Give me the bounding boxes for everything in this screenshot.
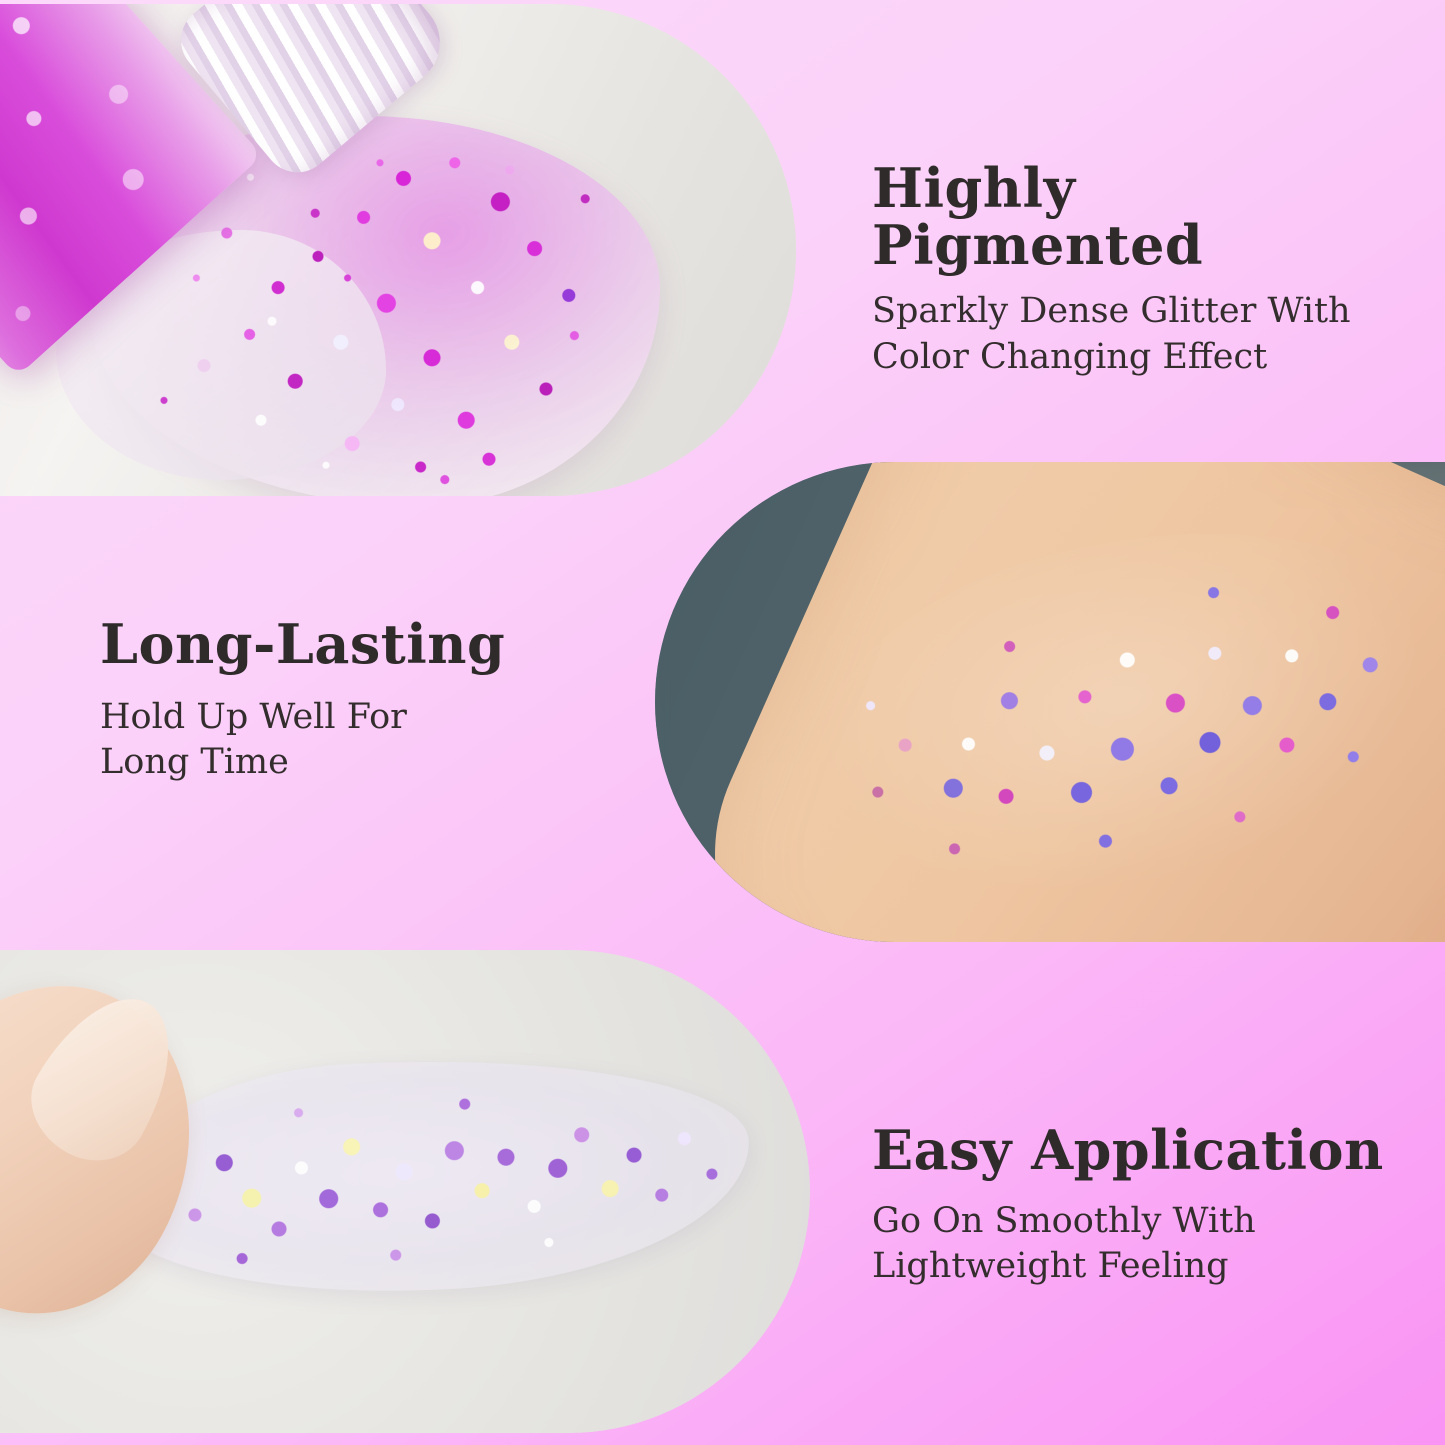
feature-title: Highly Pigmented [872, 160, 1417, 273]
feature-block-easy-application: Easy Application Go On Smoothly With Lig… [872, 1122, 1392, 1290]
gel-smear [104, 1043, 755, 1306]
feature-block-long-lasting: Long-Lasting Hold Up Well For Long Time [100, 616, 570, 786]
feature-title: Long-Lasting [100, 616, 570, 673]
feature-title: Easy Application [872, 1122, 1392, 1179]
feature-block-highly-pigmented: Highly Pigmented Sparkly Dense Glitter W… [872, 160, 1417, 380]
feature-subtitle: Hold Up Well For Long Time [100, 695, 570, 786]
product-feature-infographic: Highly Pigmented Sparkly Dense Glitter W… [0, 0, 1445, 1445]
feature-subtitle: Sparkly Dense Glitter With Color Changin… [872, 289, 1417, 380]
glitter-gel-tube-photo [0, 4, 796, 496]
finger-swipe-photo [0, 950, 810, 1433]
arm-swatch-photo [655, 462, 1445, 942]
feature-subtitle: Go On Smoothly With Lightweight Feeling [872, 1199, 1392, 1290]
